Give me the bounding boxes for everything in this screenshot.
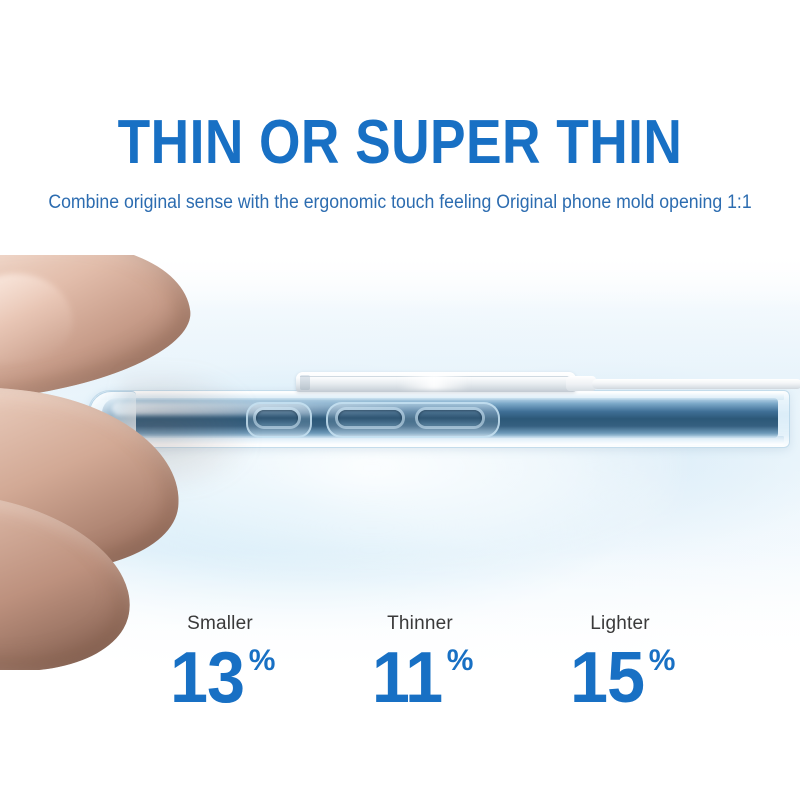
hand: [0, 250, 360, 670]
stat-value: 15%: [520, 642, 720, 714]
stat-number: 13: [170, 642, 244, 714]
percent-symbol: %: [249, 644, 276, 677]
page-subtitle: Combine original sense with the ergonomi…: [28, 190, 772, 216]
stats-row: Smaller 13% Thinner 11% Lighter 15%: [120, 612, 720, 714]
stat-label: Smaller: [120, 612, 320, 636]
stat-number: 11: [371, 642, 441, 714]
page-title: THIN OR SUPER THIN: [56, 110, 744, 176]
index-fingertip: [0, 267, 77, 368]
stat-lighter: Lighter 15%: [520, 612, 720, 714]
product-photo: [0, 250, 800, 670]
stat-thinner: Thinner 11%: [320, 612, 520, 714]
header-block: THIN OR SUPER THIN Combine original sens…: [0, 0, 800, 255]
product-feature-banner: THIN OR SUPER THIN Combine original sens…: [0, 0, 800, 800]
volume-down-cutout: [418, 410, 482, 426]
percent-symbol: %: [649, 644, 676, 677]
stat-label: Lighter: [520, 612, 720, 636]
percent-symbol: %: [447, 644, 474, 677]
stat-value: 13%: [120, 642, 320, 714]
magsafe-puck-highlight: [398, 374, 470, 390]
stat-smaller: Smaller 13%: [120, 612, 320, 714]
stat-label: Thinner: [320, 612, 520, 636]
charging-cable: [592, 379, 800, 389]
stat-value: 11%: [320, 642, 520, 714]
stat-number: 15: [570, 642, 644, 714]
